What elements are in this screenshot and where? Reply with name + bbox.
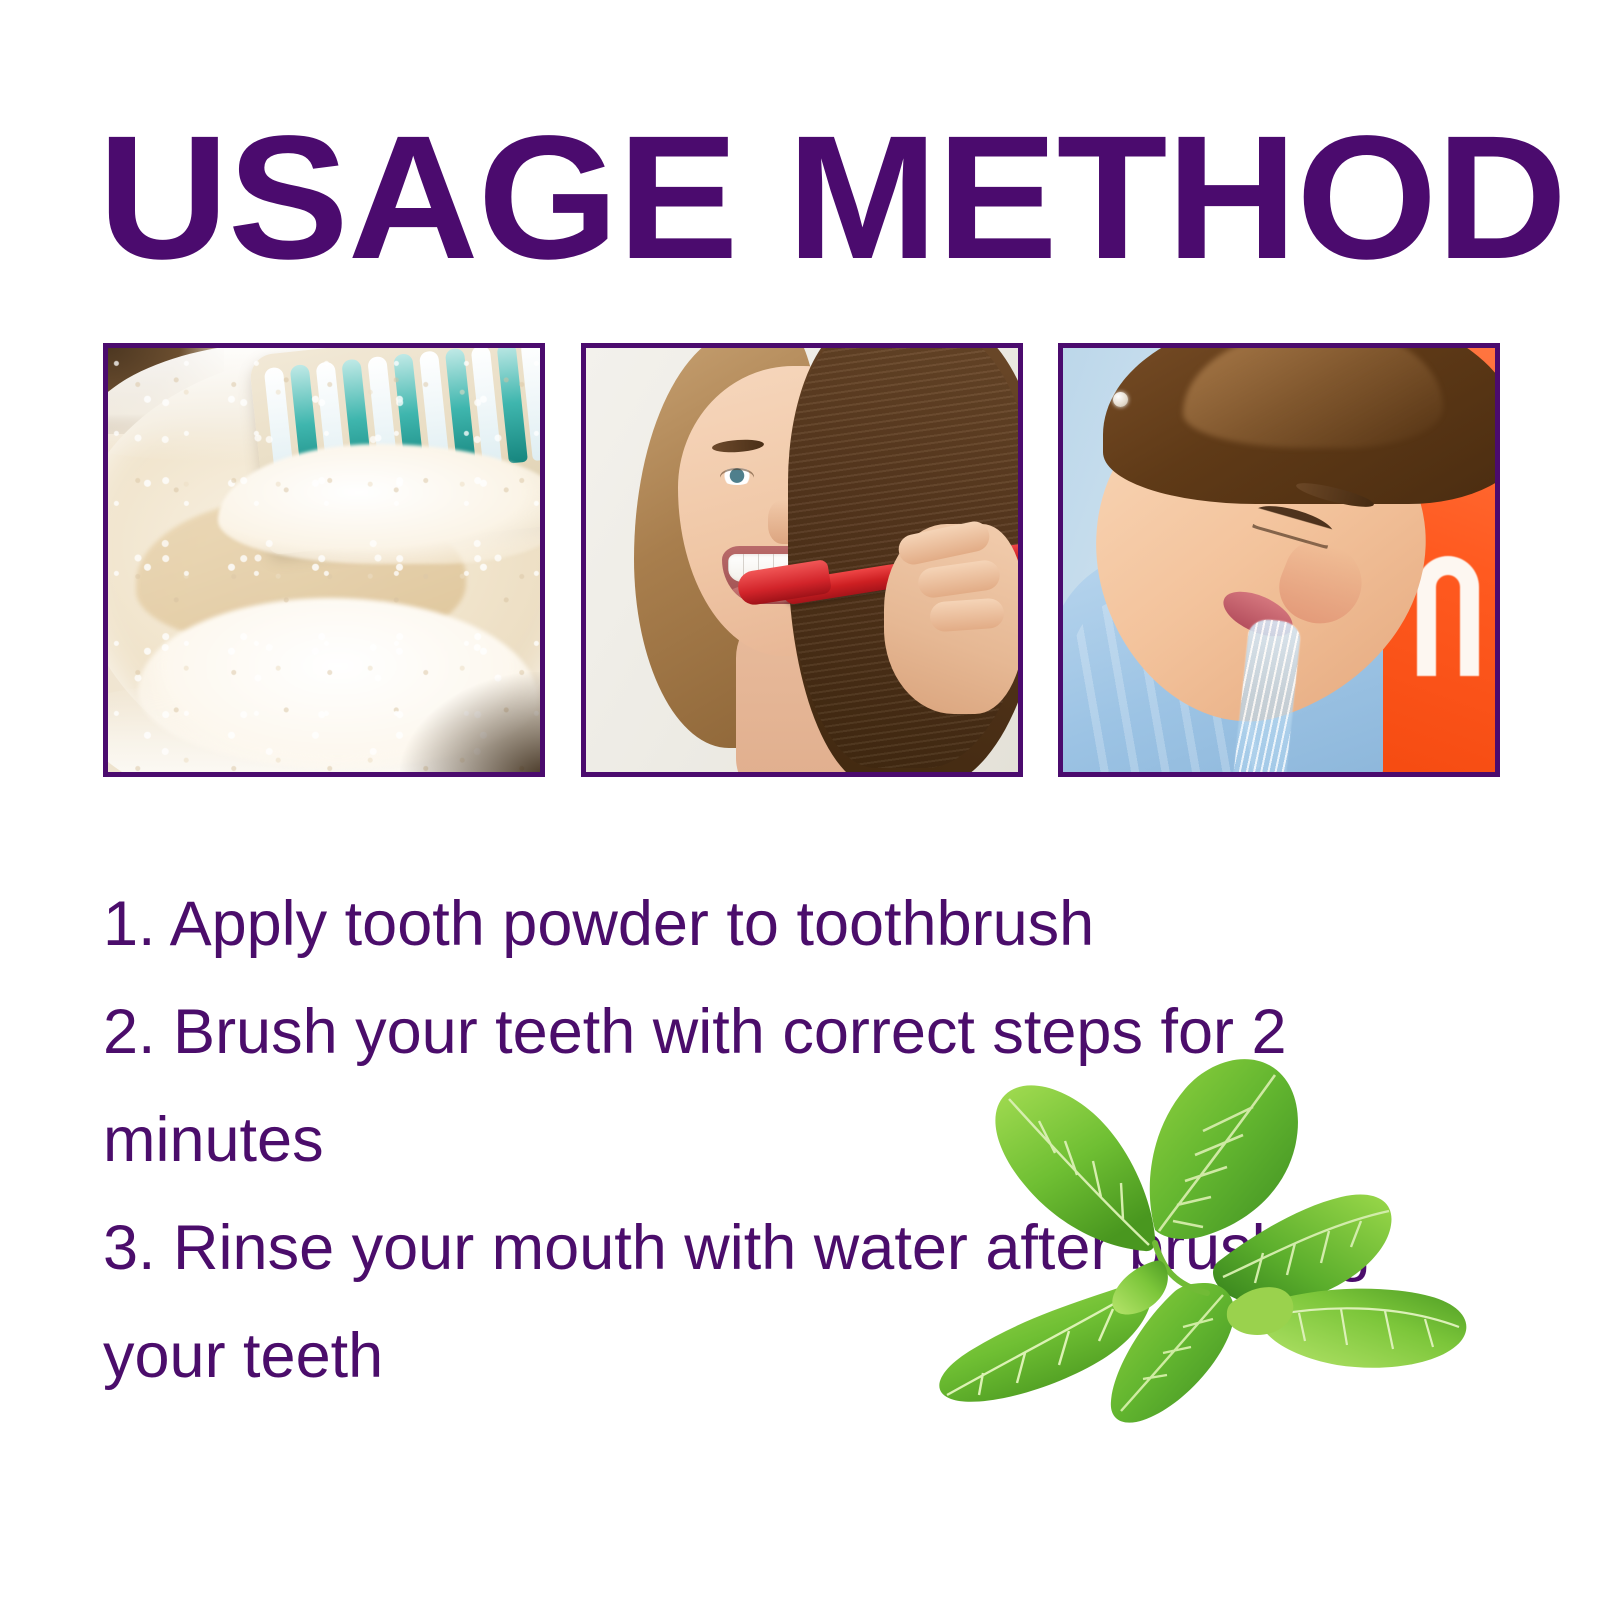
finger: [929, 597, 1005, 632]
hair-highlight: [1183, 348, 1443, 448]
gallery-strip: [103, 343, 1500, 777]
page-title: USAGE METHOD: [98, 118, 1561, 278]
step-3-photo-frame: [1058, 343, 1500, 777]
step-1-photo-frame: [103, 343, 545, 777]
brushing-woman-image: [586, 348, 1018, 772]
step-2-photo-frame: [581, 343, 1023, 777]
white-arch-shape: [1417, 556, 1479, 676]
instruction-list: 1. Apply tooth powder to toothbrush 2. B…: [103, 870, 1493, 1410]
pearl-earring: [1113, 392, 1128, 407]
tooth-powder-image: [108, 348, 540, 772]
usage-method-infographic: USAGE METHOD: [0, 0, 1600, 1600]
powder-dark-corner-br: [400, 672, 540, 772]
instruction-step-1: 1. Apply tooth powder to toothbrush: [103, 870, 1493, 978]
instruction-step-2: 2. Brush your teeth with correct steps f…: [103, 978, 1493, 1194]
instruction-step-3: 3. Rinse your mouth with water after bru…: [103, 1194, 1493, 1410]
eye-left: [720, 468, 754, 485]
rinsing-woman-image: [1063, 348, 1495, 772]
